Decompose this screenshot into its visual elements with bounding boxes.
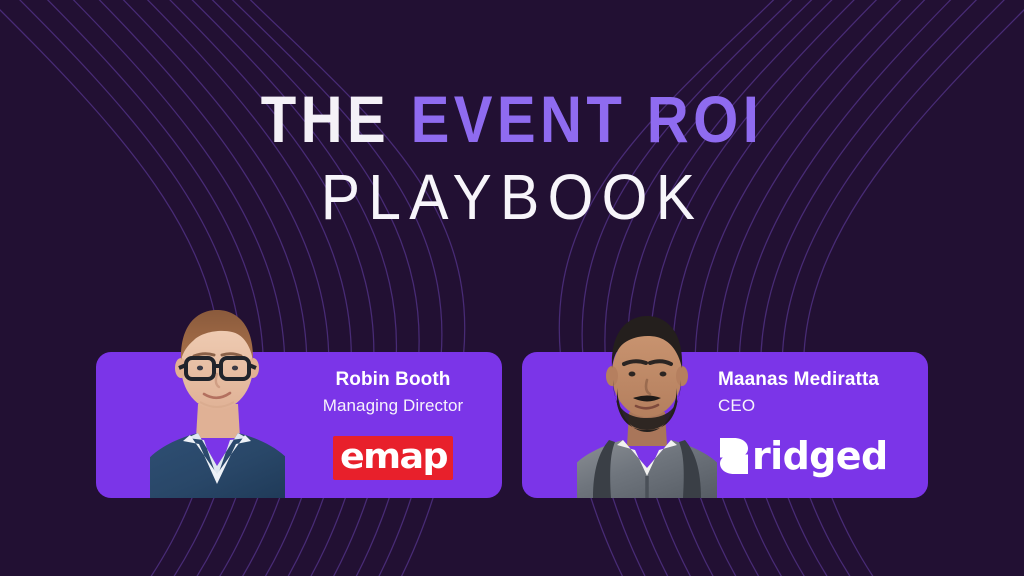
bridged-b-mark-icon [718, 436, 750, 476]
title-line-1: THE EVENT ROI [61, 86, 962, 153]
title-block: THE EVENT ROI PLAYBOOK [0, 86, 1024, 231]
promo-slide: THE EVENT ROI PLAYBOOK [0, 0, 1024, 576]
headshot-robin-booth [150, 288, 285, 498]
bridged-wordmark: ridged [752, 437, 888, 475]
emap-logo-plate: emap [333, 436, 454, 480]
company-logo-bridged: ridged [718, 436, 946, 476]
title-the: THE [261, 82, 411, 156]
headshot-maanas-mediratta [577, 300, 717, 498]
speaker-text-robin-booth: Robin Booth Managing Director emap [284, 368, 502, 480]
speaker-role: CEO [718, 395, 946, 418]
speaker-role: Managing Director [284, 395, 502, 418]
company-logo-emap: emap [284, 436, 502, 480]
speaker-text-maanas-mediratta: Maanas Mediratta CEO ridged [718, 368, 946, 476]
bridged-logo-lockup: ridged [718, 436, 946, 476]
title-line-2: PLAYBOOK [41, 165, 983, 230]
speaker-name: Robin Booth [284, 368, 502, 392]
speaker-name: Maanas Mediratta [718, 368, 946, 392]
emap-wordmark: emap [339, 440, 446, 475]
title-event-roi: EVENT ROI [411, 82, 764, 156]
